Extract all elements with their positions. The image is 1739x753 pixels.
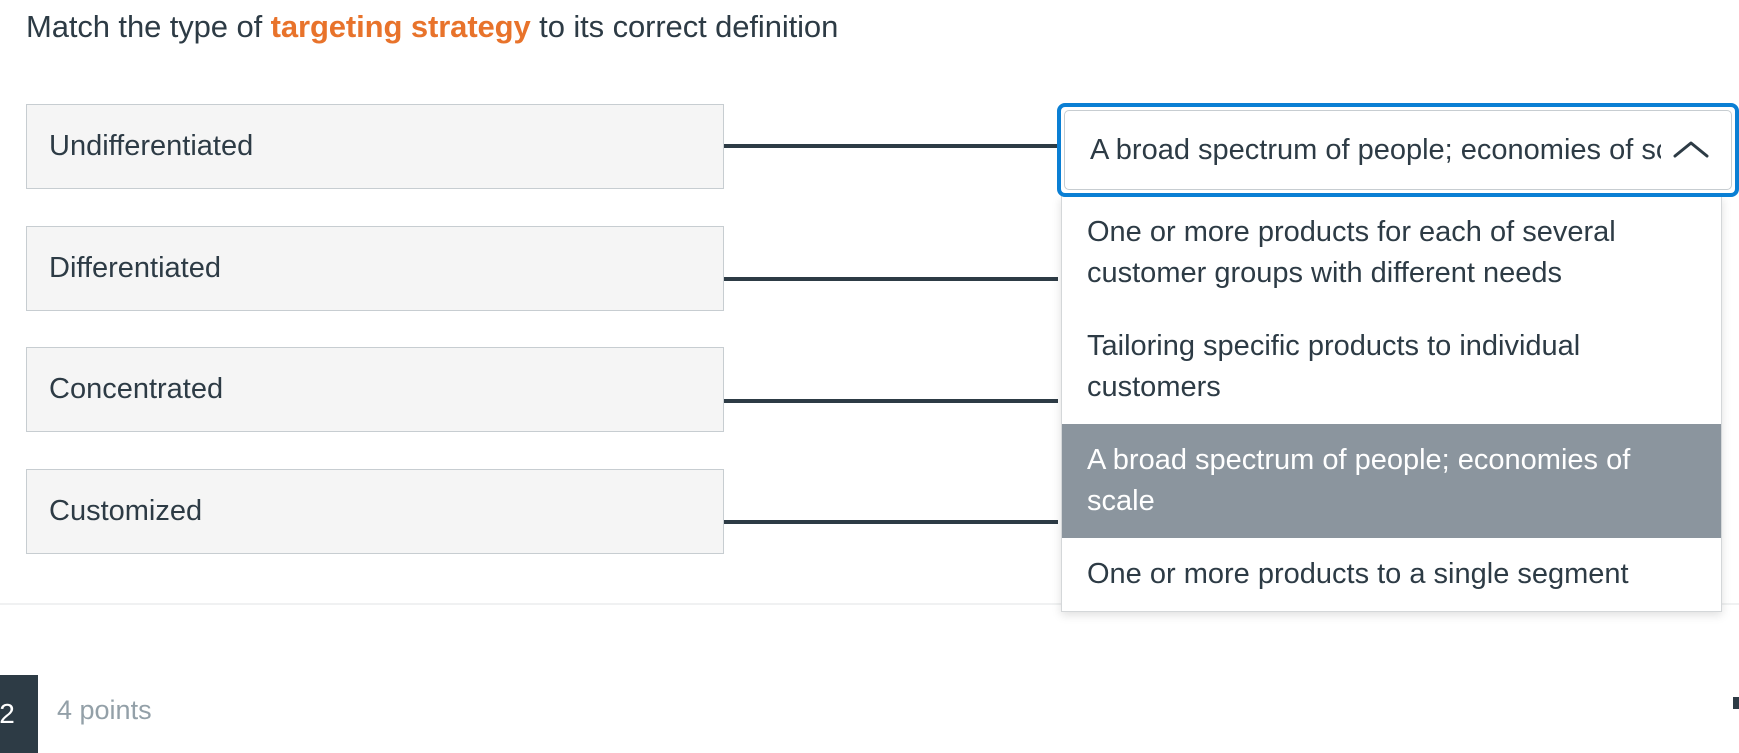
definition-dropdown-list[interactable]: One or more products for each of several… [1061,196,1722,612]
prompt-text-before: Match the type of [26,9,271,44]
term-label: Differentiated [49,254,221,283]
term-label: Customized [49,497,202,526]
term-box-customized: Customized [26,469,724,554]
prompt-highlight-text: targeting strategy [271,9,531,44]
dropdown-option-1[interactable]: Tailoring specific products to individua… [1062,310,1721,424]
question-number-label: 2 [0,698,15,730]
term-label: Undifferentiated [49,132,253,161]
term-box-differentiated: Differentiated [26,226,724,311]
term-box-concentrated: Concentrated [26,347,724,432]
question-number-badge: 2 [0,675,38,753]
definition-select[interactable]: A broad spectrum of people; economies of… [1064,110,1732,190]
prompt-text-after: to its correct definition [531,9,839,44]
definition-select-value: A broad spectrum of people; economies of… [1090,136,1661,165]
dropdown-option-2[interactable]: A broad spectrum of people; economies of… [1062,424,1721,538]
page-title: Match the type of targeting strategy to … [26,6,838,48]
connector-line-1 [724,144,1069,148]
connector-line-2 [724,277,1058,281]
chevron-up-icon[interactable] [1669,128,1713,172]
question-page: Match the type of targeting strategy to … [0,0,1739,753]
connector-line-3 [724,399,1058,403]
connector-line-4 [724,520,1058,524]
definition-select-focus-ring: A broad spectrum of people; economies of… [1057,103,1739,197]
dropdown-option-0[interactable]: One or more products for each of several… [1062,196,1721,310]
points-label: 4 points [57,697,152,724]
dropdown-option-3[interactable]: One or more products to a single segment [1062,538,1721,611]
term-label: Concentrated [49,375,223,404]
footer-edge-marker [1733,697,1739,709]
term-box-undifferentiated: Undifferentiated [26,104,724,189]
